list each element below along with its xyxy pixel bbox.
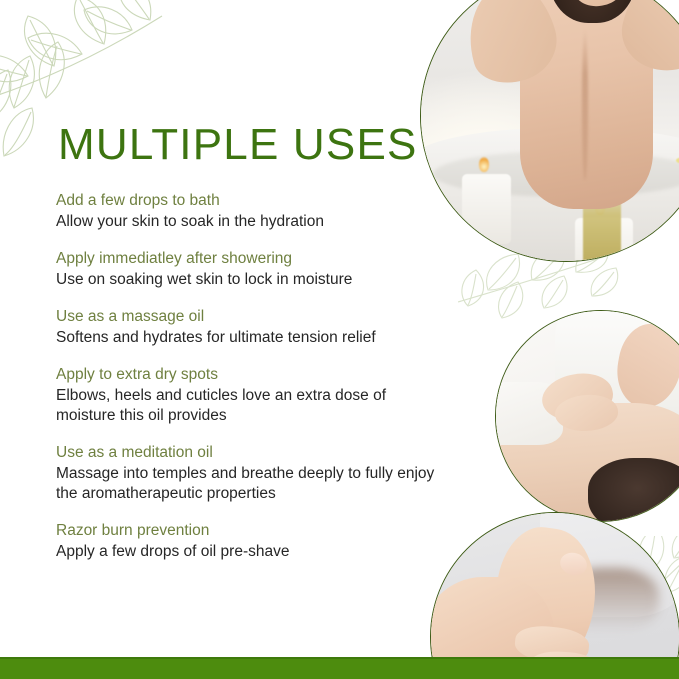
use-description: Massage into temples and breathe deeply … [56,464,436,504]
photo-woman-in-bath [420,0,679,262]
use-heading: Add a few drops to bath [56,191,446,211]
use-heading: Apply to extra dry spots [56,365,446,385]
page-title: MULTIPLE USES [58,123,418,167]
use-heading: Apply immediatley after showering [56,249,446,269]
use-heading: Use as a massage oil [56,307,446,327]
use-item: Razor burn prevention Apply a few drops … [56,521,446,562]
use-item: Apply to extra dry spots Elbows, heels a… [56,365,446,426]
use-description: Use on soaking wet skin to lock in moist… [56,270,436,290]
use-description: Softens and hydrates for ultimate tensio… [56,328,436,348]
product-infographic: MULTIPLE USES Add a few drops to bath Al… [0,0,679,679]
use-description: Apply a few drops of oil pre-shave [56,542,436,562]
use-item: Add a few drops to bath Allow your skin … [56,191,446,232]
bottom-accent-bar [0,657,679,679]
use-heading: Use as a meditation oil [56,443,446,463]
photo-oil-on-hands [430,512,679,679]
use-heading: Razor burn prevention [56,521,446,541]
use-description: Allow your skin to soak in the hydration [56,212,436,232]
use-item: Apply immediatley after showering Use on… [56,249,446,290]
use-item: Use as a meditation oil Massage into tem… [56,443,446,504]
uses-list: Add a few drops to bath Allow your skin … [56,191,446,562]
use-item: Use as a massage oil Softens and hydrate… [56,307,446,348]
photo-back-massage [495,310,679,522]
use-description: Elbows, heels and cuticles love an extra… [56,386,436,426]
